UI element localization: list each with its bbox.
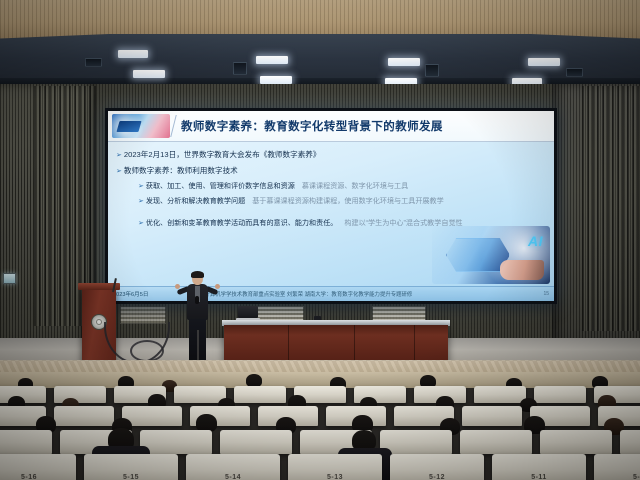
left-hand — [175, 284, 180, 289]
audience-seat[interactable] — [540, 430, 612, 454]
presentation-slide: 教师数字素养：教育数字化转型背景下的教师发展 ➢ 2023年2月13日，世界数字… — [108, 111, 554, 301]
slide-bullet: ➢ 教师数字素养：教师利用数字技术 — [116, 165, 546, 176]
handheld-microphone-icon — [195, 296, 199, 304]
list-item[interactable]: 5-10 — [594, 454, 640, 480]
audience-seat[interactable] — [460, 430, 532, 454]
slide-title: 教师数字素养：教育数字化转型背景下的教师发展 — [181, 118, 443, 134]
recessed-ceiling-light — [118, 50, 148, 58]
subbullet-text: 优化、创新和变革教育教学活动而具有的意识、能力和责任。 — [146, 218, 338, 228]
subbullet-note: 基于慕课课程资源构建课程，使用数字化环境与工具开展教学 — [252, 196, 444, 206]
slide-page-number: 15 — [543, 291, 549, 297]
logo-divider — [170, 115, 176, 137]
recessed-ceiling-light — [388, 58, 420, 66]
seat-number: 5-12 — [390, 474, 484, 480]
audience-seat[interactable] — [0, 430, 52, 454]
seat-number: 5-13 — [288, 474, 382, 480]
audience-seat[interactable] — [534, 386, 586, 403]
right-curtain — [582, 86, 640, 331]
ceiling-vent — [233, 62, 247, 75]
seat-number: 5-11 — [492, 474, 586, 480]
ceiling-vent — [566, 68, 583, 77]
list-item[interactable]: 5-11 — [492, 454, 586, 480]
audience-seat[interactable] — [54, 406, 114, 426]
recessed-ceiling-light — [256, 56, 288, 64]
bullet-arrow-icon: ➢ — [116, 167, 122, 175]
list-item[interactable]: 5-14 — [186, 454, 280, 480]
audience-seat[interactable] — [474, 386, 526, 403]
laptop-screen — [238, 306, 258, 318]
audience-seat[interactable] — [140, 430, 212, 454]
audience-seat[interactable] — [220, 430, 292, 454]
subbullet-note: 慕课课程资源、数字化环境与工具 — [302, 181, 408, 191]
head-table — [224, 325, 448, 365]
bullet-arrow-icon: ➢ — [116, 151, 122, 159]
slide-body: ➢ 2023年2月13日，世界数字教育大会发布《教师数字素养》 ➢ 教师数字素养… — [108, 142, 554, 228]
seat-number: 5-14 — [186, 474, 280, 480]
leg-gap — [197, 330, 199, 360]
projection-screen[interactable]: 教师数字素养：教育数字化转型背景下的教师发展 ➢ 2023年2月13日，世界数字… — [105, 108, 557, 304]
seat-number: 5-10 — [594, 474, 640, 480]
recessed-ceiling-light — [528, 58, 560, 66]
slide-header: 教师数字素养：教育数字化转型背景下的教师发展 — [108, 111, 554, 142]
illuminated-wall-sign — [3, 273, 16, 284]
bullet-arrow-icon: ➢ — [138, 182, 144, 190]
ceiling-vent — [425, 64, 439, 77]
hair — [191, 271, 204, 278]
auditorium-scene: 教师数字素养：教育数字化转型背景下的教师发展 ➢ 2023年2月13日，世界数字… — [0, 0, 640, 480]
presenter-laptop[interactable] — [236, 306, 260, 321]
recessed-ceiling-light — [260, 76, 292, 84]
hand-icon — [500, 260, 544, 280]
floor-cable — [130, 340, 164, 362]
ceiling-vent — [85, 58, 102, 67]
slide-subbullet: ➢ 获取、加工、使用、管理和评价数字信息和资源 慕课课程资源、数字化环境与工具 — [138, 181, 546, 191]
slide-footer-credit: 计算机学学技术教育部重点实验室 刘繁荣 湖南大学：教育数字化教学能力提升专题研修 — [204, 290, 412, 298]
slide-bullet: ➢ 2023年2月13日，世界数字教育大会发布《教师数字素养》 — [116, 149, 546, 160]
seat-number: 5-16 — [0, 474, 76, 480]
audience-seat[interactable] — [234, 386, 286, 403]
seat-number: 5-15 — [84, 474, 178, 480]
technology-education-logo-icon — [112, 114, 170, 138]
speaker-presenting — [178, 272, 218, 366]
audience-seat[interactable] — [54, 386, 106, 403]
ai-network-hand-illustration: AI — [432, 226, 550, 284]
right-hand — [215, 284, 220, 289]
list-item[interactable]: 5-12 — [390, 454, 484, 480]
audience-seat[interactable] — [462, 406, 522, 426]
bullet-text: 教师数字素养：教师利用数字技术 — [124, 165, 238, 176]
slide-footer-date: 2023年6月5日 — [113, 290, 148, 298]
recessed-ceiling-light — [133, 70, 165, 78]
list-item[interactable]: 5-15 — [84, 454, 178, 480]
bullet-arrow-icon: ➢ — [138, 219, 144, 227]
table-seam — [354, 325, 355, 365]
bullet-text: 2023年2月13日，世界数字教育大会发布《教师数字素养》 — [124, 149, 321, 160]
slide-subbullet: ➢ 发现、分析和解决教育教学问题 基于慕课课程资源构建课程，使用数字化环境与工具… — [138, 196, 546, 206]
table-seam — [414, 325, 415, 365]
subbullet-text: 获取、加工、使用、管理和评价数字信息和资源 — [146, 181, 295, 191]
audience-seat[interactable] — [620, 430, 640, 454]
ai-label: AI — [528, 233, 543, 249]
seated-audience: 5-16 5-15 5-14 5-13 5-12 5-11 5-10 — [0, 372, 640, 480]
bullet-arrow-icon: ➢ — [138, 197, 144, 205]
table-seam — [288, 325, 289, 365]
list-item[interactable]: 5-13 — [288, 454, 382, 480]
list-item[interactable]: 5-16 — [0, 454, 76, 480]
subbullet-text: 发现、分析和解决教育教学问题 — [146, 196, 245, 206]
